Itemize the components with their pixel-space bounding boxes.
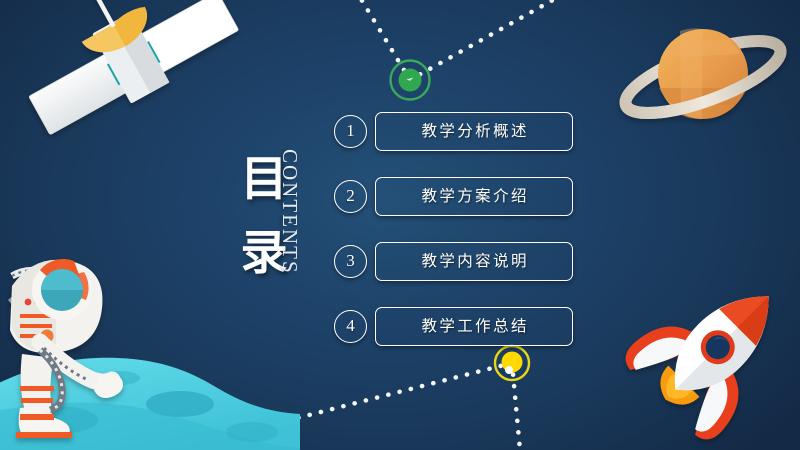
menu-item-3[interactable]: 3 教学内容说明 <box>334 242 576 307</box>
menu-number-4: 4 <box>334 310 367 343</box>
menu-box-4[interactable]: 教学工作总结 <box>375 307 573 346</box>
dotted-path-lower-down <box>512 363 520 450</box>
menu-number-1: 1 <box>334 115 367 148</box>
saturn-illustration <box>547 0 800 170</box>
rocket-illustration <box>619 252 800 446</box>
menu-box-2[interactable]: 教学方案介绍 <box>375 177 573 216</box>
menu-item-2[interactable]: 2 教学方案介绍 <box>334 177 576 242</box>
menu-item-4[interactable]: 4 教学工作总结 <box>334 307 576 372</box>
dotted-path-upper-right <box>410 0 560 80</box>
menu-label-3: 教学内容说明 <box>376 243 572 279</box>
menu-label-4: 教学工作总结 <box>376 308 572 344</box>
page-title-en: CONTENTS <box>277 149 302 309</box>
green-node <box>391 61 430 100</box>
dotted-path-upper-left <box>358 0 410 80</box>
menu-label-2: 教学方案介绍 <box>376 178 572 214</box>
menu-number-2: 2 <box>334 180 367 213</box>
contents-menu: 1 教学分析概述 2 教学方案介绍 3 教学内容说明 4 教学工作总结 <box>334 112 576 372</box>
menu-box-3[interactable]: 教学内容说明 <box>375 242 573 281</box>
presentation-slide: 目 录 CONTENTS 1 教学分析概述 2 教学方案介绍 3 教学内容说明 … <box>0 0 800 450</box>
contents-title-block: 目 录 CONTENTS <box>228 143 340 318</box>
menu-number-3: 3 <box>334 245 367 278</box>
menu-box-1[interactable]: 教学分析概述 <box>375 112 573 151</box>
satellite-illustration <box>29 0 239 135</box>
menu-label-1: 教学分析概述 <box>376 113 572 149</box>
menu-item-1[interactable]: 1 教学分析概述 <box>334 112 576 177</box>
